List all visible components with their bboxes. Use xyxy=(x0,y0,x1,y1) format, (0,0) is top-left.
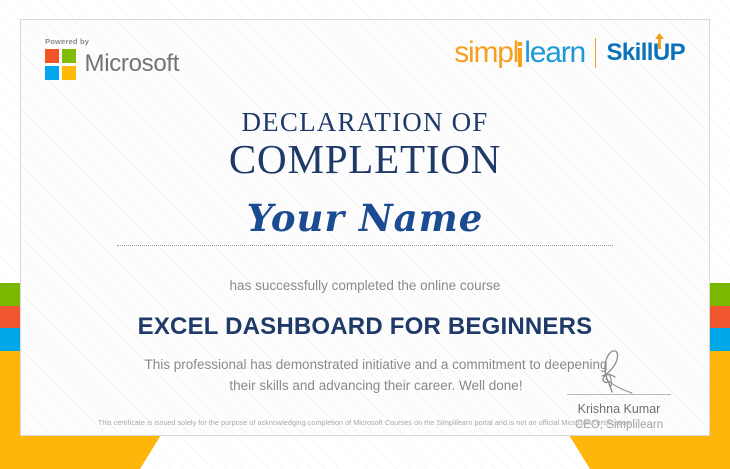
microsoft-square-red xyxy=(45,49,59,63)
recipient-name-underline xyxy=(117,245,613,246)
title-line-1: DECLARATION OF xyxy=(21,108,709,136)
certificate-footnote: This certificate is issued solely for th… xyxy=(61,418,669,427)
course-name: EXCEL DASHBOARD FOR BEGINNERS xyxy=(21,313,709,341)
title-line-2: COMPLETION xyxy=(21,138,709,181)
microsoft-square-blue xyxy=(45,66,59,80)
simplilearn-text-simpl: simpl xyxy=(454,38,518,68)
signature-mark-icon xyxy=(559,346,679,394)
microsoft-squares-icon xyxy=(45,49,76,80)
logo-divider xyxy=(595,38,597,68)
signature-line xyxy=(567,394,671,395)
simplilearn-skillup-logo: simpl learn Skill UP xyxy=(454,38,685,68)
recipient-name-block: Your Name xyxy=(21,200,709,246)
certificate-title-block: DECLARATION OF COMPLETION xyxy=(21,108,709,181)
skillup-text-up: UP xyxy=(653,41,685,65)
powered-by-label: Powered by xyxy=(45,37,179,46)
certificate-description: This professional has demonstrated initi… xyxy=(131,355,621,397)
certificate-canvas: Powered by Microsoft simpl learn Skill xyxy=(0,0,730,469)
signatory-name: Krishna Kumar xyxy=(559,401,679,417)
microsoft-square-yellow xyxy=(62,66,76,80)
simplilearn-text-learn: learn xyxy=(524,38,585,68)
microsoft-wordmark: Microsoft xyxy=(85,50,180,78)
recipient-name: Your Name xyxy=(21,200,709,237)
certificate-card: Powered by Microsoft simpl learn Skill xyxy=(20,19,710,436)
up-arrow-icon xyxy=(655,33,664,49)
simplilearn-i-glyph-icon xyxy=(518,38,522,68)
skillup-text-skill: Skill xyxy=(606,41,652,65)
microsoft-logo: Powered by Microsoft xyxy=(45,37,179,80)
completion-subtitle: has successfully completed the online co… xyxy=(21,278,709,293)
microsoft-square-green xyxy=(62,49,76,63)
